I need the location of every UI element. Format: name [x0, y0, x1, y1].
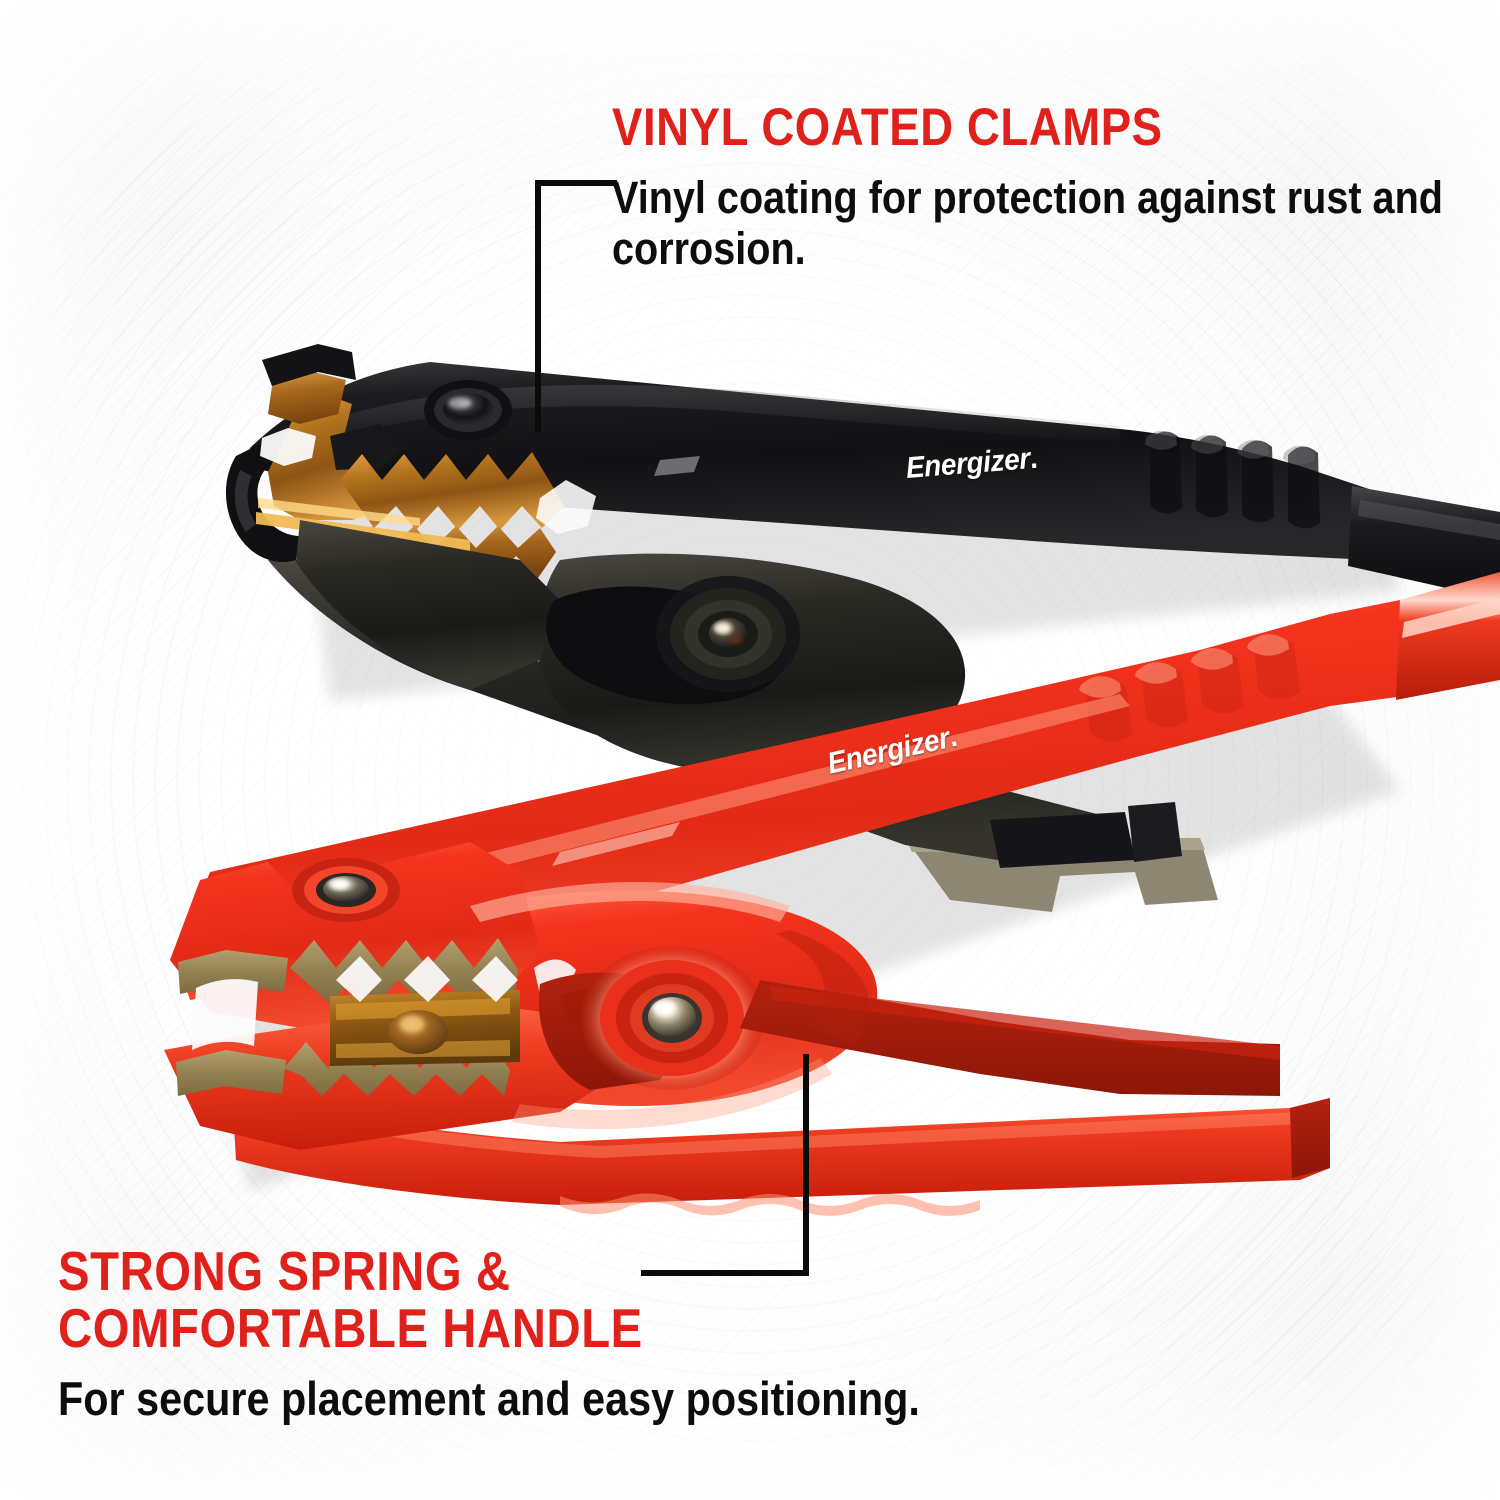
callout-strong-spring-comfortable-handle: STRONG SPRING & COMFORTABLE HANDLE For s… [58, 1243, 1238, 1426]
callout-title-vinyl: VINYL COATED CLAMPS [612, 100, 1489, 155]
leader-line-top-horizontal [535, 180, 617, 186]
callout-vinyl-coated-clamps: VINYL COATED CLAMPS Vinyl coating for pr… [612, 100, 1500, 274]
leader-line-top-vertical [535, 180, 541, 432]
callout-title-spring: STRONG SPRING & COMFORTABLE HANDLE [58, 1243, 1073, 1357]
callout-body-vinyl: Vinyl coating for protection against rus… [612, 173, 1492, 274]
infographic-canvas: Energizer. Energizer. VINYL COATED CLAMP… [0, 0, 1500, 1500]
callout-body-spring: For secure placement and easy positionin… [58, 1373, 1096, 1426]
